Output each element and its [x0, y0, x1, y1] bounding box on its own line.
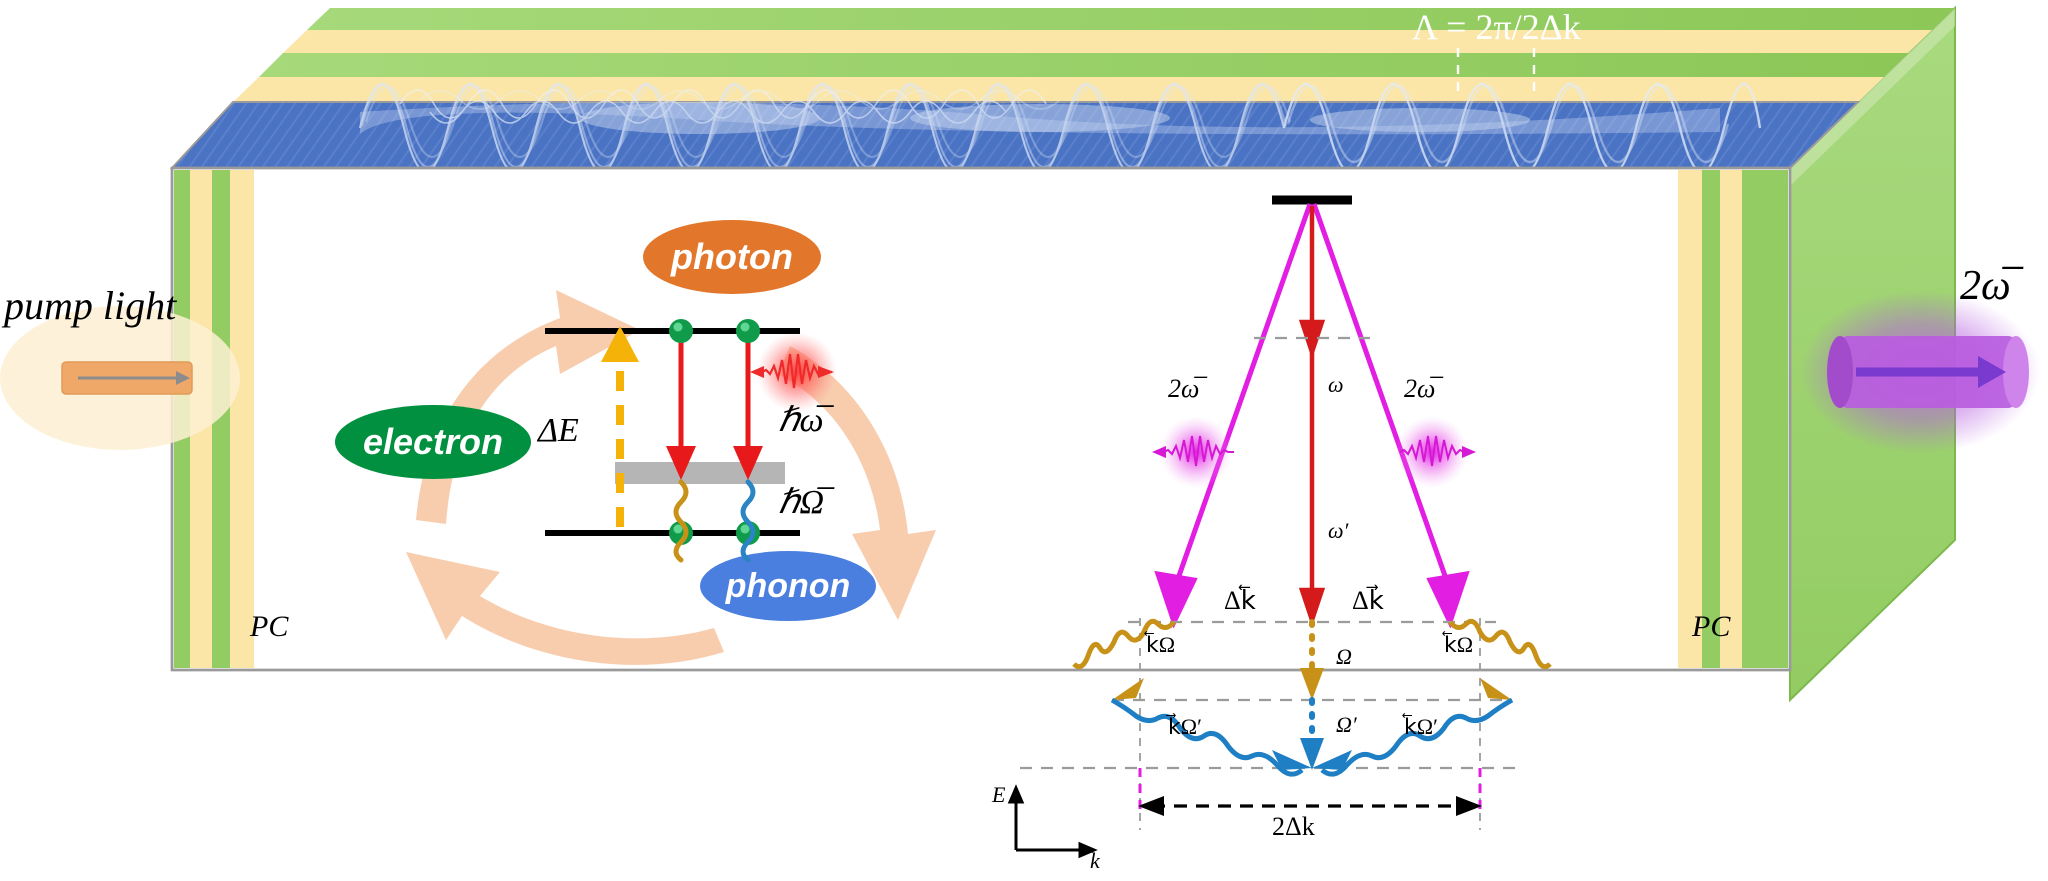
k-omega-prime-right-label: k⃖Ω′ [1404, 714, 1438, 740]
k-omega-right-label: k⃖Ω [1444, 632, 1473, 658]
axis-k-label: k [1090, 848, 1100, 874]
sideband-pulse-left [1152, 416, 1234, 488]
omega-prime-phonon-label: Ω′ [1336, 712, 1357, 738]
omega-phonon-label: Ω [1336, 644, 1352, 670]
scattered-omega-label: ω′ [1328, 518, 1348, 544]
sideband-left-label: 2ω̅ [1168, 374, 1199, 404]
dispersion-diagram [0, 0, 2048, 881]
figure-canvas: Λ = 2π/2Δk pump light 2ω̅ PC PC photon e… [0, 0, 2048, 881]
pump-omega-label: ω [1328, 372, 1344, 398]
pump-omega-arrow [1302, 206, 1322, 352]
sideband-pulse-right [1396, 416, 1476, 488]
spacing-label: 2Δk [1272, 812, 1315, 842]
spacing-measure [1138, 768, 1482, 816]
dispersion-axes [1010, 788, 1094, 856]
scattered-omega-arrow [1302, 352, 1322, 620]
delta-k-right-label: Δk⃗ [1352, 586, 1384, 616]
sideband-right-label: 2ω̅ [1404, 374, 1435, 404]
k-omega-prime-left-label: k⃗Ω′ [1168, 714, 1202, 740]
delta-k-left-label: Δk⃖ [1224, 586, 1256, 616]
dispersion-guide-lines [1020, 338, 1520, 768]
axis-e-label: E [992, 782, 1005, 808]
k-omega-left-label: k⃖Ω [1146, 632, 1175, 658]
